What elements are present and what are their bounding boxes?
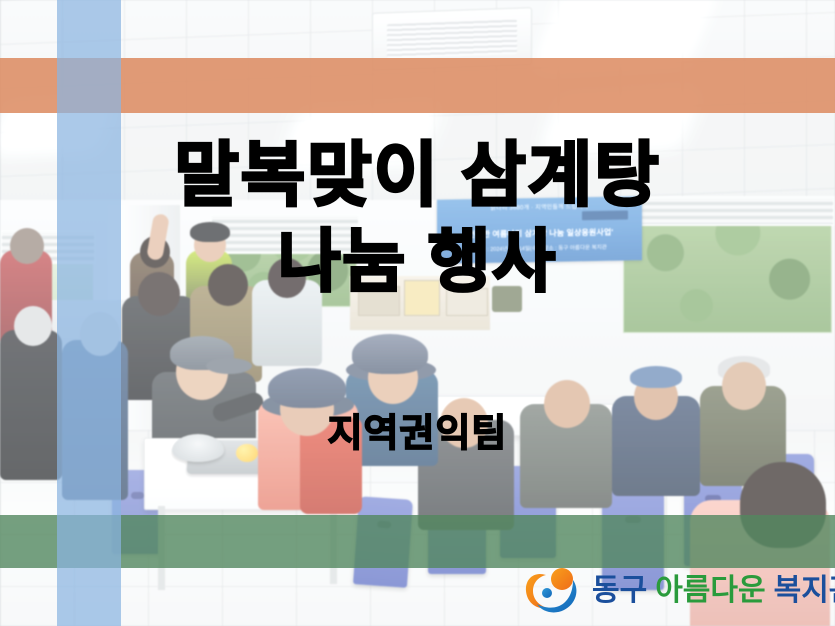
poster-title: 말복맞이 삼계탕 나눔 행사 [0, 140, 835, 296]
logo-word-areumdaun: 아름다운 [655, 574, 765, 607]
event-poster: 닭다리 3680개 · 지역민들께 드립니다 '건강한 여름나기 삼계탕 나눔 … [0, 0, 835, 626]
title-line-2: 나눔 행사 [0, 228, 835, 296]
organization-logo: 동구아름다운복지관 [524, 566, 835, 616]
orange-accent-band [0, 58, 835, 113]
donggu-swirl-logo-icon [524, 566, 582, 616]
logo-wordmark: 동구아름다운복지관 [592, 576, 835, 606]
title-line-1: 말복맞이 삼계탕 [0, 140, 835, 210]
blue-accent-band [57, 0, 121, 626]
poster-subtitle: 지역권익팀 [0, 402, 835, 457]
green-accent-band [0, 515, 835, 568]
logo-word-donggu: 동구 [592, 574, 647, 607]
logo-word-bokjigwan: 복지관 [774, 574, 835, 607]
